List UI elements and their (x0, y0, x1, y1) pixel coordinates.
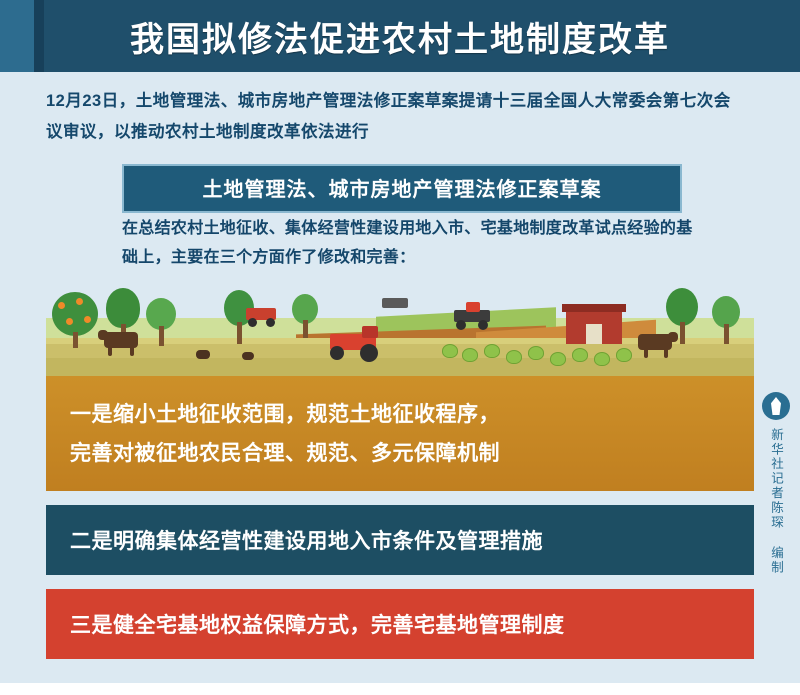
headline-box: 土地管理法、城市房地产管理法修正案草案 (122, 164, 682, 213)
cabbage-icon (506, 350, 522, 364)
fruit-icon (76, 298, 83, 305)
barn-roof-icon (562, 304, 626, 312)
cow-leg-icon (108, 346, 112, 356)
reform-item-3: 三是健全宅基地权益保障方式，完善宅基地管理制度 (46, 589, 754, 659)
orchard-tree-icon (52, 292, 98, 336)
tree-trunk-icon (680, 322, 685, 344)
harvester-wheel-icon (478, 320, 488, 330)
reform-item-1-line2: 完善对被征地农民合理、规范、多元保障机制 (70, 434, 500, 473)
reform-item-1: 一是缩小土地征收范围，规范土地征收程序， 完善对被征地农民合理、规范、多元保障机… (46, 376, 754, 491)
truck-wheel-icon (248, 318, 257, 327)
tractor-wheel-icon (330, 346, 344, 360)
credit-block: 新华社记者 陈琛 编制 (756, 392, 796, 575)
farm-illustration (46, 272, 754, 376)
dirt-road (46, 358, 754, 376)
cabbage-icon (442, 344, 458, 358)
page-title: 我国拟修法促进农村土地制度改革 (0, 0, 800, 72)
tractor-cab-icon (362, 326, 378, 338)
cabbage-icon (462, 348, 478, 362)
plow-icon (382, 298, 408, 308)
cow-leg-icon (664, 348, 668, 358)
cow-head-icon (668, 332, 678, 342)
tractor-wheel-icon (360, 344, 378, 362)
tree-trunk-icon (73, 332, 78, 348)
sub-paragraph: 在总结农村土地征收、集体经营性建设用地入市、宅基地制度改革试点经验的基础上，主要… (122, 214, 702, 272)
harvester-wheel-icon (456, 320, 466, 330)
reform-item-2-line1: 二是明确集体经营性建设用地入市条件及管理措施 (70, 525, 543, 555)
tree-trunk-icon (237, 322, 242, 344)
chicken-icon (242, 352, 254, 360)
cabbage-icon (616, 348, 632, 362)
tree-icon (106, 288, 140, 328)
barn-door-icon (586, 324, 602, 344)
cabbage-icon (528, 346, 544, 360)
cabbage-icon (484, 344, 500, 358)
fruit-icon (66, 318, 73, 325)
reform-item-1-line1: 一是缩小土地征收范围，规范土地征收程序， (70, 395, 500, 434)
tree-trunk-icon (724, 324, 729, 344)
cow-leg-icon (644, 348, 648, 358)
cow-leg-icon (130, 346, 134, 356)
tree-trunk-icon (303, 320, 308, 338)
cabbage-icon (572, 348, 588, 362)
lead-paragraph: 12月23日，土地管理法、城市房地产管理法修正案草案提请十三届全国人大常委会第七… (46, 86, 746, 148)
reform-item-2: 二是明确集体经营性建设用地入市条件及管理措施 (46, 505, 754, 575)
xinhua-logo-icon (762, 392, 790, 420)
cabbage-icon (594, 352, 610, 366)
tree-icon (666, 288, 698, 326)
chicken-icon (196, 350, 210, 359)
fruit-icon (58, 302, 65, 309)
credit-reporter: 新华社记者 (768, 428, 784, 501)
infographic-canvas: 我国拟修法促进农村土地制度改革 12月23日，土地管理法、城市房地产管理法修正案… (0, 0, 800, 695)
truck-wheel-icon (266, 318, 275, 327)
tree-trunk-icon (159, 326, 164, 346)
credit-name: 陈琛 编制 (768, 501, 784, 575)
harvester-cab-icon (466, 302, 480, 312)
bottom-strip (0, 683, 800, 695)
cabbage-icon (550, 352, 566, 366)
reform-item-3-line1: 三是健全宅基地权益保障方式，完善宅基地管理制度 (70, 609, 565, 639)
cow-head-icon (98, 330, 108, 340)
fruit-icon (84, 316, 91, 323)
